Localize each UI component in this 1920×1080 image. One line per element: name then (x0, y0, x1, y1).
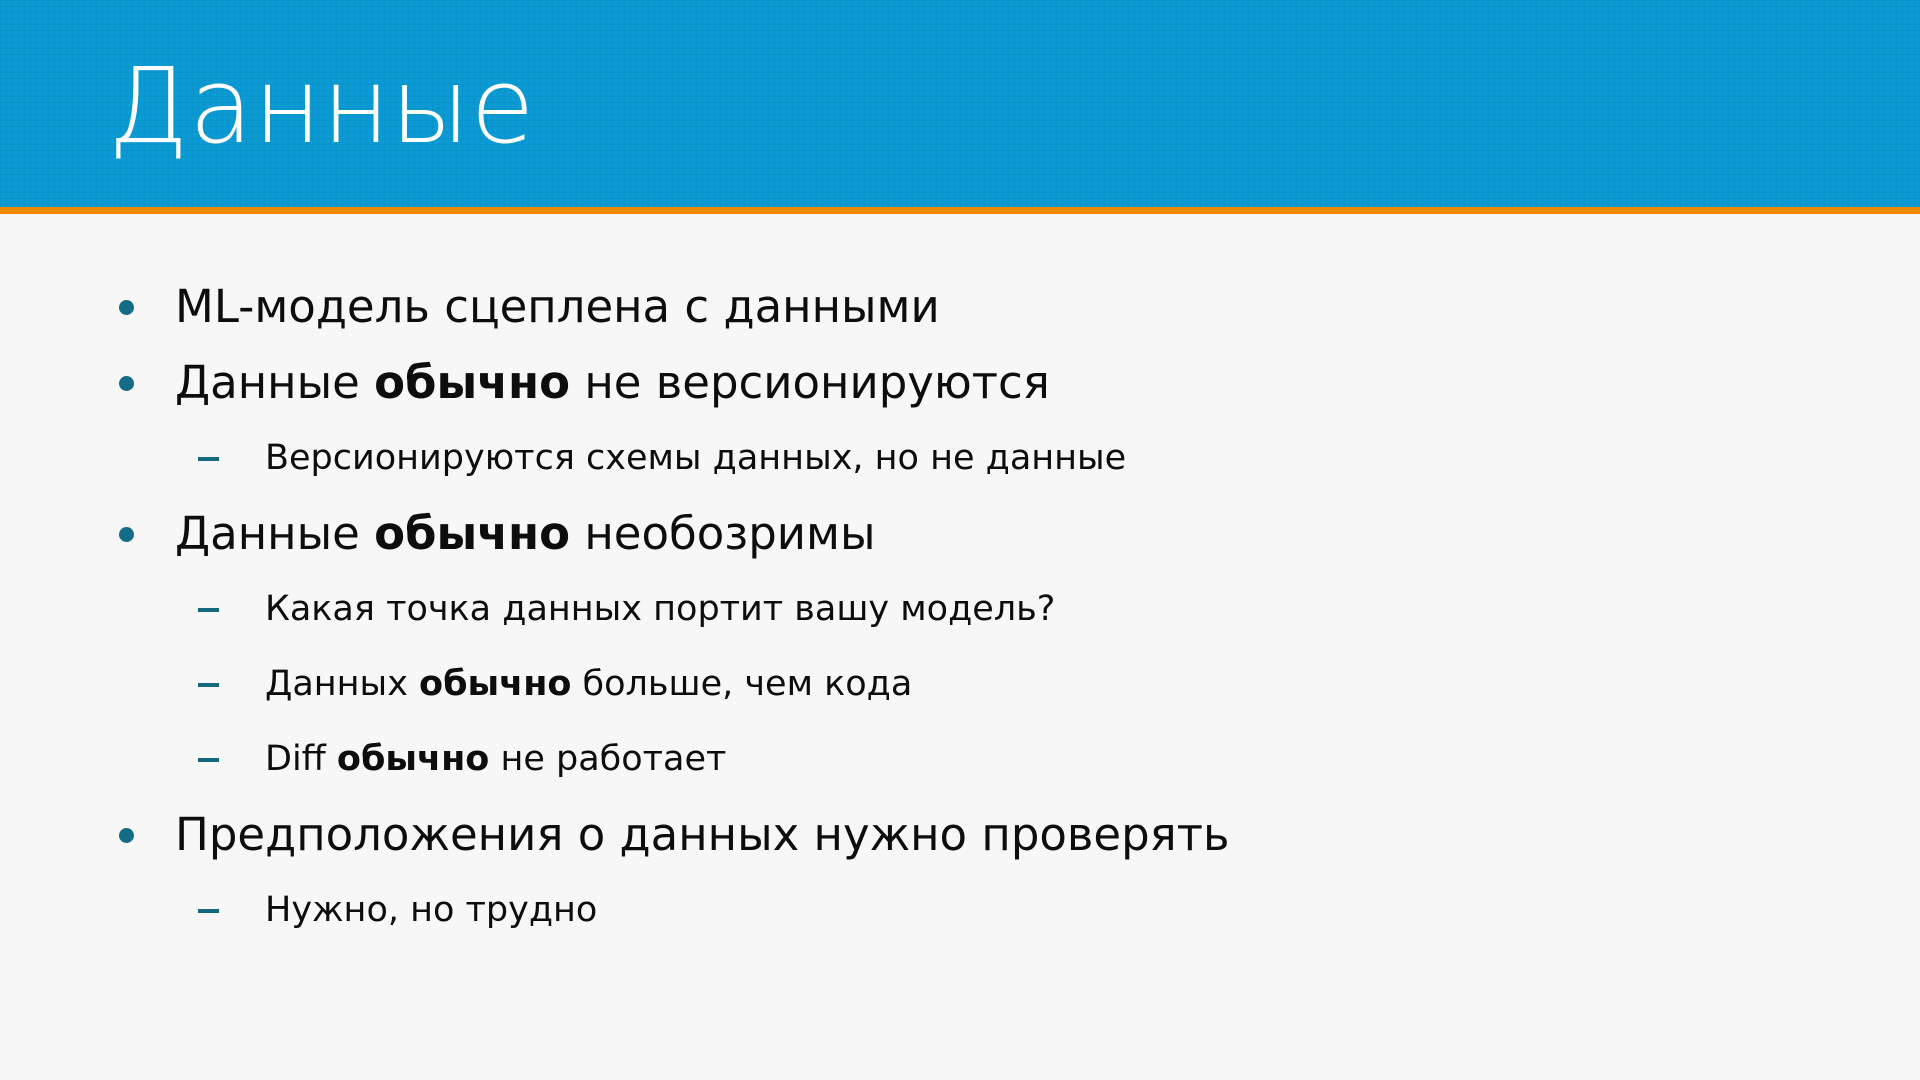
slide: Данные ML-модель сцеплена с даннымиДанны… (0, 0, 1920, 1080)
bullet-dash-icon (198, 647, 228, 722)
emphasis-text: обычно (374, 356, 570, 409)
bullet-dash-icon (198, 421, 228, 496)
plain-text: Данные (175, 356, 374, 409)
bullet-dash-shape (198, 758, 219, 762)
plain-text: Какая точка данных портит вашу модель? (265, 589, 1055, 629)
bullet-dash-shape (198, 457, 219, 461)
plain-text: Предположения о данных нужно проверять (175, 808, 1230, 861)
bullet-dot-shape (119, 376, 134, 391)
list-item: Данных обычно больше, чем кода (90, 647, 1830, 722)
plain-text: Diff (265, 739, 337, 779)
list-item: Нужно, но трудно (90, 873, 1830, 948)
plain-text: не версионируются (570, 356, 1050, 409)
bullet-dash-icon (198, 873, 228, 948)
list-item-label: Нужно, но трудно (265, 890, 597, 930)
list-item-label: ML-модель сцеплена с данными (175, 280, 940, 333)
bullet-list: ML-модель сцеплена с даннымиДанные обычн… (90, 269, 1830, 948)
bullet-dot-icon (115, 797, 137, 873)
bullet-dash-shape (198, 608, 219, 612)
emphasis-text: обычно (374, 507, 570, 560)
list-item: ML-модель сцеплена с данными (90, 269, 1830, 345)
emphasis-text: обычно (419, 664, 571, 704)
slide-content: ML-модель сцеплена с даннымиДанные обычн… (0, 214, 1920, 1080)
plain-text: больше, чем кода (571, 664, 912, 704)
slide-header-band: Данные (0, 0, 1920, 207)
bullet-dash-shape (198, 683, 219, 687)
plain-text: Версионируются схемы данных, но не данны… (265, 438, 1126, 478)
bullet-dot-icon (115, 269, 137, 345)
list-item-label: Данных обычно больше, чем кода (265, 664, 912, 704)
bullet-dot-shape (119, 828, 134, 843)
list-item-label: Какая точка данных портит вашу модель? (265, 589, 1055, 629)
bullet-dot-shape (119, 300, 134, 315)
plain-text: Данных (265, 664, 419, 704)
bullet-dash-shape (198, 909, 219, 913)
plain-text: не работает (489, 739, 726, 779)
list-item: Данные обычно необозримы (90, 496, 1830, 572)
list-item: Версионируются схемы данных, но не данны… (90, 421, 1830, 496)
plain-text: необозримы (570, 507, 875, 560)
bullet-dash-icon (198, 722, 228, 797)
list-item-label: Предположения о данных нужно проверять (175, 808, 1230, 861)
header-accent-rule (0, 207, 1920, 214)
plain-text: ML-модель сцеплена с данными (175, 280, 940, 333)
list-item: Предположения о данных нужно проверять (90, 797, 1830, 873)
list-item: Данные обычно не версионируются (90, 345, 1830, 421)
bullet-dot-icon (115, 345, 137, 421)
list-item: Какая точка данных портит вашу модель? (90, 572, 1830, 647)
emphasis-text: обычно (337, 739, 489, 779)
list-item-label: Версионируются схемы данных, но не данны… (265, 438, 1126, 478)
bullet-dot-icon (115, 496, 137, 572)
page-title: Данные (108, 47, 535, 165)
list-item: Diff обычно не работает (90, 722, 1830, 797)
bullet-dot-shape (119, 527, 134, 542)
plain-text: Нужно, но трудно (265, 890, 597, 930)
plain-text: Данные (175, 507, 374, 560)
bullet-dash-icon (198, 572, 228, 647)
list-item-label: Данные обычно не версионируются (175, 356, 1050, 409)
list-item-label: Diff обычно не работает (265, 739, 726, 779)
list-item-label: Данные обычно необозримы (175, 507, 876, 560)
